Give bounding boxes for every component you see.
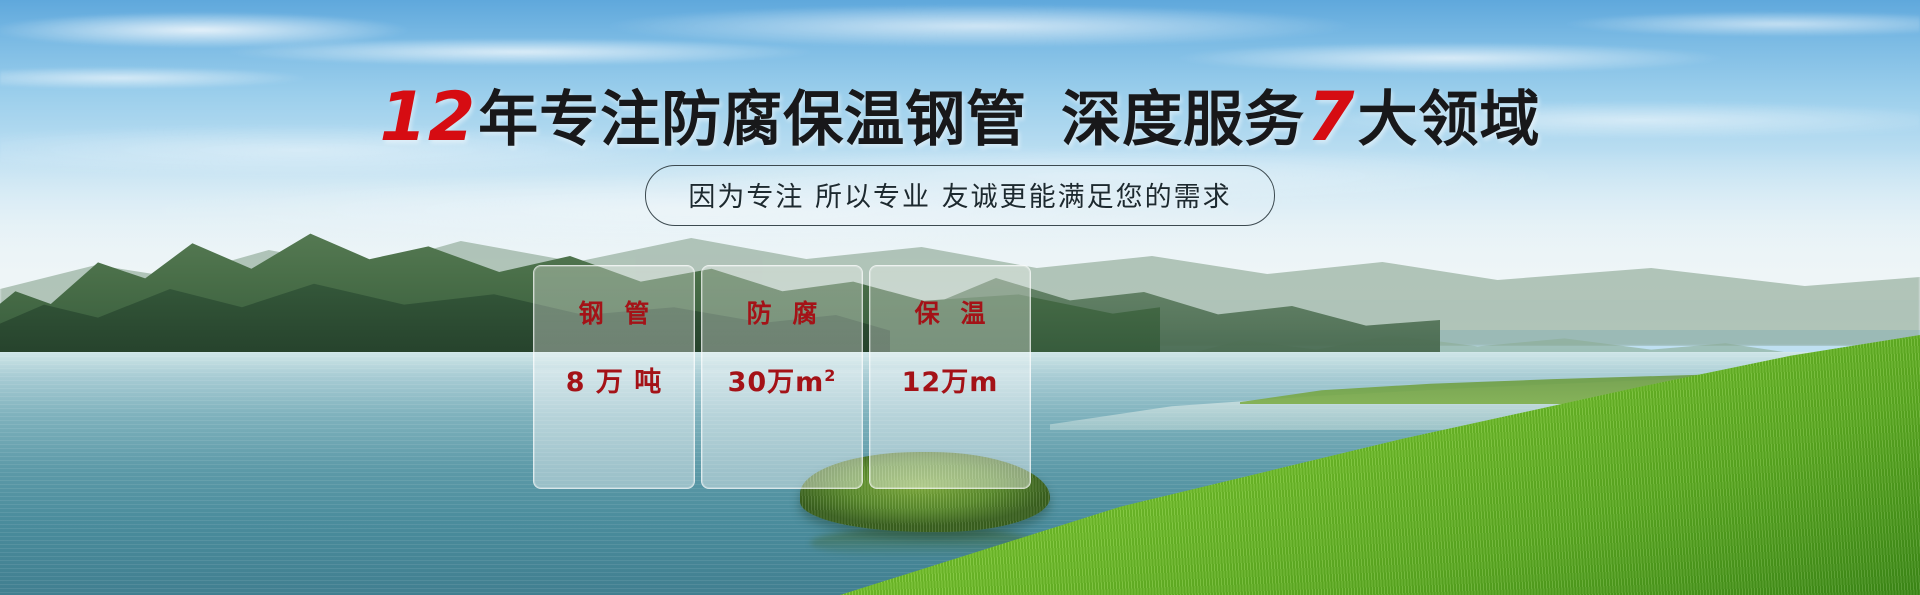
- banner-subtitle: 因为专注 所以专业 友诚更能满足您的需求: [645, 165, 1274, 226]
- headline-years-number: 12: [380, 78, 479, 157]
- headline-part-three: 大领域: [1357, 85, 1540, 155]
- headline-part-two: 深度服务: [1061, 85, 1305, 155]
- stat-card-title: 钢 管: [534, 294, 694, 330]
- stat-card-steel-pipe[interactable]: 钢 管 8 万 吨: [533, 265, 695, 489]
- promo-banner: 12年专注防腐保温钢管深度服务7大领域 因为专注 所以专业 友诚更能满足您的需求…: [0, 0, 1920, 595]
- stat-card-group: 钢 管 8 万 吨 防 腐 30万m2 保 温 12万m: [533, 265, 1031, 489]
- banner-headline: 12年专注防腐保温钢管深度服务7大领域: [0, 84, 1920, 152]
- stat-card-title: 防 腐: [702, 294, 862, 330]
- stat-card-value: 12万m: [870, 360, 1030, 399]
- stat-card-value-text: 12万m: [902, 367, 999, 398]
- stat-card-insulation[interactable]: 保 温 12万m: [869, 265, 1031, 489]
- stat-card-value-text: 8 万 吨: [566, 367, 663, 398]
- stat-card-value-superscript: 2: [824, 366, 836, 385]
- headline-part-one: 年专注防腐保温钢管: [478, 85, 1027, 155]
- banner-subtitle-wrap: 因为专注 所以专业 友诚更能满足您的需求: [0, 165, 1920, 226]
- stat-card-title: 保 温: [870, 294, 1030, 330]
- headline-fields-number: 7: [1305, 78, 1357, 157]
- stat-card-value-text: 30万m: [728, 367, 825, 398]
- stat-card-value: 30万m2: [702, 360, 862, 399]
- stat-card-anticorrosion[interactable]: 防 腐 30万m2: [701, 265, 863, 489]
- stat-card-value: 8 万 吨: [534, 360, 694, 399]
